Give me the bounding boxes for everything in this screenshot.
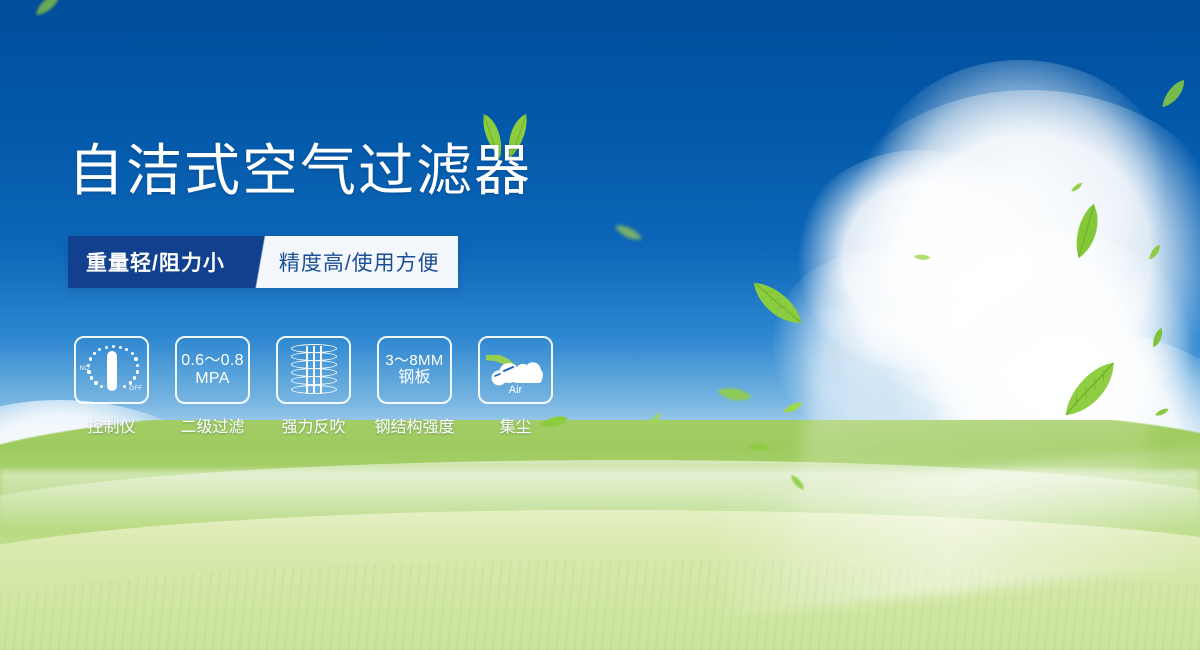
feature-caption: 二级过滤 bbox=[180, 413, 244, 437]
feature-icon-box: 0.6～0.8 MPA bbox=[175, 336, 250, 404]
feature-item-dust-collection[interactable]: Air 集尘 bbox=[478, 336, 553, 437]
feature-caption: 集尘 bbox=[499, 413, 531, 437]
tagline-separator bbox=[247, 236, 275, 288]
feature-caption: 强力反吹 bbox=[281, 413, 345, 437]
steel-plate-text: 钢板 bbox=[398, 369, 431, 387]
leaf-icon bbox=[1052, 358, 1130, 423]
leaf-icon bbox=[1155, 78, 1192, 112]
feature-item-pressure[interactable]: 0.6～0.8 MPA 二级过滤 bbox=[175, 336, 250, 437]
gauge-label-off: OFF bbox=[129, 386, 142, 393]
page-title: 自洁式空气过滤器 bbox=[68, 143, 532, 199]
tagline-secondary: 精度高/使用方便 bbox=[275, 236, 458, 288]
pressure-unit-text: MPA bbox=[195, 370, 229, 388]
feature-item-controller[interactable]: NO OFF 控制仪 bbox=[74, 336, 149, 437]
leaf-icon bbox=[781, 401, 804, 415]
leaf-icon bbox=[30, 0, 65, 19]
cloud-shape bbox=[870, 60, 1170, 310]
tagline-badges: 重量轻/阻力小 精度高/使用方便 bbox=[68, 236, 458, 288]
gauge-needle bbox=[107, 351, 117, 391]
cloud-shape bbox=[820, 90, 1200, 420]
feature-caption: 钢结构强度 bbox=[375, 413, 455, 437]
leaf-icon bbox=[539, 416, 569, 434]
leaf-icon bbox=[1069, 182, 1085, 194]
cloud-shape bbox=[790, 150, 1050, 370]
cloud-shape bbox=[770, 250, 990, 440]
leaf-icon bbox=[913, 251, 931, 263]
leaf-icon bbox=[1064, 202, 1113, 262]
gauge-icon: NO OFF bbox=[81, 344, 143, 396]
air-label: Air bbox=[480, 384, 551, 397]
feature-caption: 控制仪 bbox=[87, 413, 135, 437]
leaf-icon bbox=[1148, 326, 1168, 349]
leaf-icon bbox=[1145, 243, 1164, 262]
gauge-label-no: NO bbox=[80, 366, 90, 373]
feature-item-steel[interactable]: 3～8MM 钢板 钢结构强度 bbox=[377, 336, 452, 437]
steel-thickness-text: 3～8MM bbox=[385, 352, 443, 369]
product-hero-banner: 自洁式空气过滤器 重量轻/阻力小 精度高/使用方便 bbox=[0, 0, 1200, 650]
grass-field bbox=[0, 420, 1200, 650]
leaf-icon bbox=[715, 380, 754, 409]
leaf-icon bbox=[747, 271, 805, 338]
feature-icon-box bbox=[276, 336, 351, 404]
tagline-primary: 重量轻/阻力小 bbox=[68, 236, 247, 288]
feature-list: NO OFF 控制仪 0.6～0.8 MPA 二级过滤 bbox=[74, 336, 553, 437]
airflow-stack-icon bbox=[291, 344, 337, 396]
feature-item-blowback[interactable]: 强力反吹 bbox=[276, 336, 351, 437]
pressure-range-text: 0.6～0.8 bbox=[181, 352, 244, 370]
leaf-icon bbox=[612, 218, 644, 248]
feature-icon-box: 3～8MM 钢板 bbox=[377, 336, 452, 404]
feature-icon-box: NO OFF bbox=[74, 336, 149, 404]
feature-icon-box: Air bbox=[478, 336, 553, 404]
leaf-icon bbox=[1154, 408, 1170, 418]
